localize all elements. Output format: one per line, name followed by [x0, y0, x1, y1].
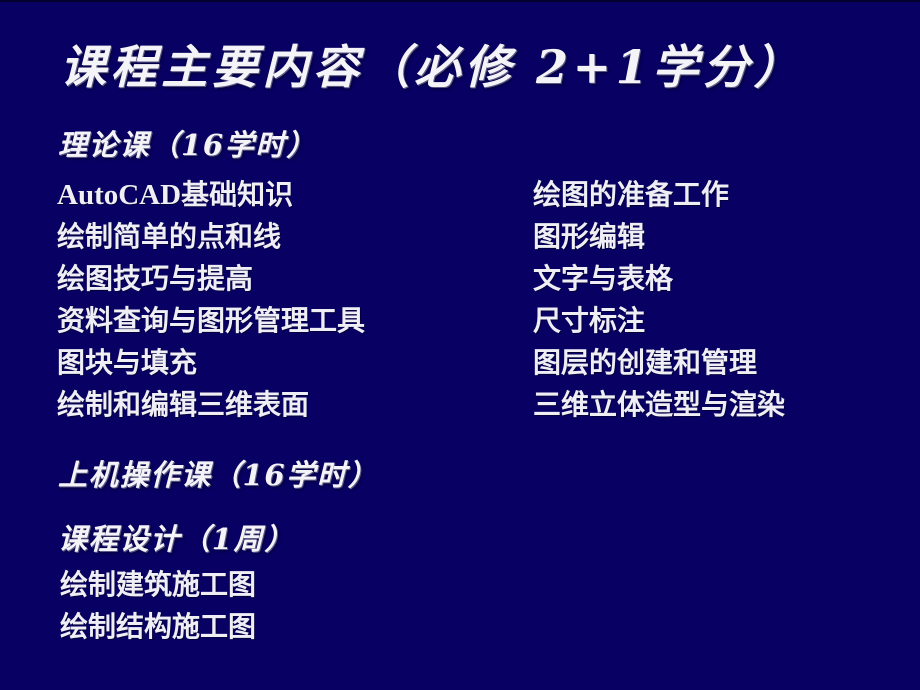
- section-heading-design: 课程设计（1周）: [58, 520, 295, 558]
- topic-left-3: 资料查询与图形管理工具: [57, 304, 365, 338]
- section-heading-lab: 上机操作课（16学时）: [58, 456, 379, 494]
- topic-right-0: 绘图的准备工作: [533, 178, 729, 212]
- topic-left-0-cjk: 基础知识: [181, 179, 293, 210]
- topic-right-1: 图形编辑: [533, 220, 645, 254]
- section-heading-theory: 理论课（16学时）: [58, 126, 317, 164]
- topic-right-3: 尺寸标注: [533, 304, 645, 338]
- topic-right-5: 三维立体造型与渲染: [533, 388, 785, 422]
- slide-title: 课程主要内容（必修 2+1学分）: [60, 38, 804, 96]
- topic-left-0-roman: AutoCAD: [57, 179, 181, 211]
- topic-left-2: 绘图技巧与提高: [57, 262, 253, 296]
- presentation-slide: 课程主要内容（必修 2+1学分） 理论课（16学时） AutoCAD基础知识 绘…: [0, 0, 920, 690]
- slide-top-edge: [0, 0, 920, 2]
- topic-left-5: 绘制和编辑三维表面: [57, 388, 309, 422]
- topic-left-4: 图块与填充: [57, 346, 197, 380]
- design-item-0: 绘制建筑施工图: [60, 568, 256, 602]
- topic-right-2: 文字与表格: [533, 262, 673, 296]
- topic-right-4: 图层的创建和管理: [533, 346, 757, 380]
- topic-left-0: AutoCAD基础知识: [57, 178, 293, 212]
- topic-left-1: 绘制简单的点和线: [57, 220, 281, 254]
- design-item-1: 绘制结构施工图: [60, 610, 256, 644]
